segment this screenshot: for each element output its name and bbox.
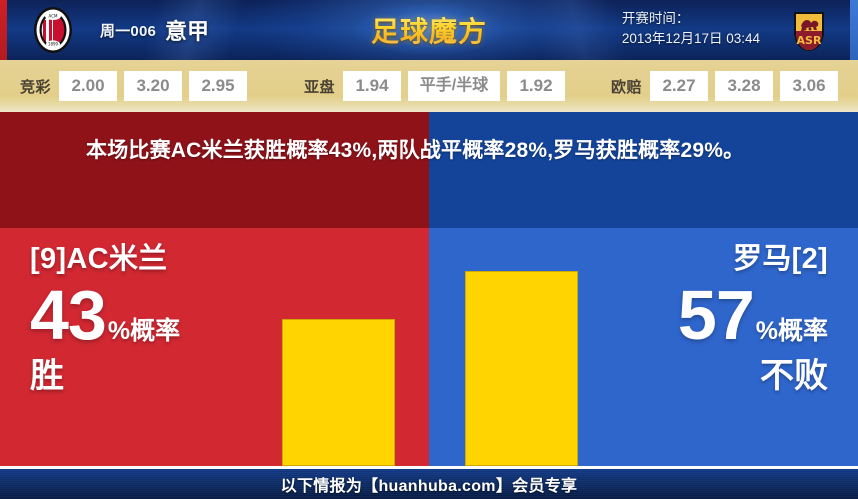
- probability-panels: [9]AC米兰 43 %概率 胜 罗马[2] 57 %概率 不败: [0, 228, 858, 466]
- header-right-accent-strip: [850, 0, 858, 60]
- odds-group-title: 欧赔: [611, 76, 643, 97]
- away-team-block: 罗马[2] 57 %概率 不败: [678, 240, 828, 396]
- ac-milan-crest-icon: ACM 1899: [27, 4, 79, 56]
- description-text: 本场比赛AC米兰获胜概率43%,两队战平概率28%,罗马获胜概率29%。: [86, 134, 786, 168]
- brand-logo: 足球魔方: [349, 4, 509, 56]
- home-team-name: [9]AC米兰: [30, 240, 180, 278]
- away-probability-value: 57: [678, 280, 754, 350]
- odds-cell-away[interactable]: 1.92: [507, 71, 565, 101]
- odds-group-oupei: 欧赔 2.27 3.28 3.06: [611, 71, 838, 101]
- svg-text:1899: 1899: [48, 41, 59, 46]
- league-name: 意甲: [165, 14, 209, 46]
- odds-cell-home[interactable]: 2.27: [650, 71, 708, 101]
- home-probability-unit: %概率: [108, 319, 180, 344]
- away-probability-unit: %概率: [756, 319, 828, 344]
- odds-cell-away[interactable]: 3.06: [780, 71, 838, 101]
- header-left-accent-strip: [0, 0, 7, 60]
- home-outcome-label: 胜: [30, 356, 180, 396]
- match-round-label: 周一006: [100, 20, 156, 41]
- odds-cell-draw[interactable]: 3.20: [124, 71, 182, 101]
- brand-logo-text: 足球魔方: [371, 10, 487, 50]
- description-half-away: [429, 112, 858, 228]
- home-probability-value: 43: [30, 280, 106, 350]
- svg-text:ASR: ASR: [797, 34, 822, 47]
- svg-text:ACM: ACM: [49, 14, 58, 19]
- odds-bar: 竞彩 2.00 3.20 2.95 亚盘 1.94 平手/半球 1.92 欧赔 …: [0, 60, 858, 112]
- description-band: 本场比赛AC米兰获胜概率43%,两队战平概率28%,罗马获胜概率29%。: [0, 112, 858, 228]
- match-probability-infographic: ACM 1899 周一006 意甲 足球魔方 开赛时间： 2013年12月17日…: [0, 0, 858, 499]
- header-bar: ACM 1899 周一006 意甲 足球魔方 开赛时间： 2013年12月17日…: [0, 0, 858, 60]
- description-half-home: [0, 112, 429, 228]
- odds-cell-draw[interactable]: 3.28: [715, 71, 773, 101]
- kickoff-time-block: 开赛时间： 2013年12月17日 03:44: [622, 9, 760, 49]
- odds-cell-home[interactable]: 2.00: [59, 71, 117, 101]
- home-probability-bar: [282, 319, 395, 466]
- kickoff-label: 开赛时间：: [622, 9, 760, 29]
- kickoff-value: 2013年12月17日 03:44: [622, 29, 760, 49]
- footer-text: 以下情报为【huanhuba.com】会员专享: [281, 472, 578, 496]
- away-team-name: 罗马[2]: [678, 240, 828, 278]
- away-probability-bar: [465, 271, 578, 466]
- home-probability-row: 43 %概率: [30, 280, 180, 350]
- odds-cell-away[interactable]: 2.95: [189, 71, 247, 101]
- odds-cell-handicap[interactable]: 平手/半球: [408, 71, 500, 101]
- as-roma-crest-icon: ASR: [783, 4, 835, 56]
- odds-group-jingcai: 竞彩 2.00 3.20 2.95: [20, 71, 247, 101]
- odds-cell-home[interactable]: 1.94: [343, 71, 401, 101]
- footer-bar: 以下情报为【huanhuba.com】会员专享: [0, 469, 858, 499]
- home-team-block: [9]AC米兰 43 %概率 胜: [30, 240, 180, 396]
- odds-group-title: 竞彩: [20, 76, 52, 97]
- away-probability-row: 57 %概率: [678, 280, 828, 350]
- away-outcome-label: 不败: [678, 356, 828, 396]
- match-title-group: 周一006 意甲: [100, 0, 209, 60]
- odds-group-yapan: 亚盘 1.94 平手/半球 1.92: [304, 71, 565, 101]
- odds-group-title: 亚盘: [304, 76, 336, 97]
